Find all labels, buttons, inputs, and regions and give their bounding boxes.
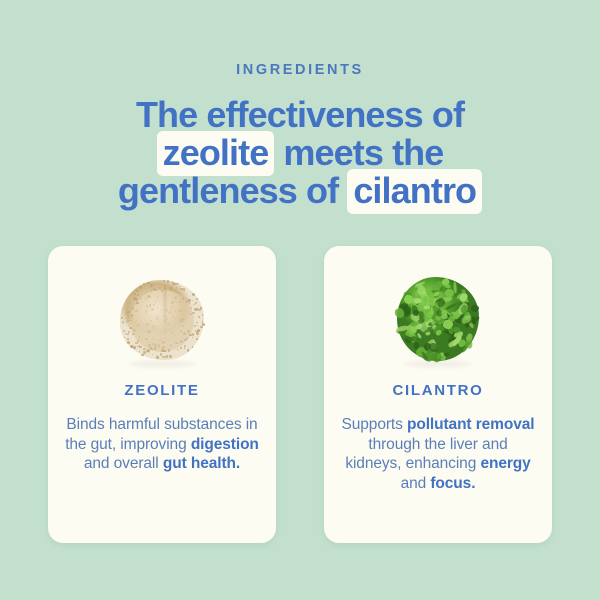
headline-line-3: gentleness of cilantro	[0, 172, 600, 210]
card-body-cilantro: Supports pollutant removal through the l…	[340, 415, 536, 493]
card-body-zeolite: Binds harmful substances in the gut, imp…	[64, 415, 260, 474]
thumb-shadow	[128, 361, 196, 367]
powder-illustration	[114, 272, 210, 368]
headline-text: gentleness of	[118, 170, 347, 211]
ingredient-card-cilantro[interactable]: CILANTRO Supports pollutant removal thro…	[324, 246, 552, 543]
headline-line-2: zeolite meets the	[0, 134, 600, 172]
zeolite-powder-image	[114, 272, 210, 368]
headline-highlight: cilantro	[347, 169, 482, 214]
headline-text: The effectiveness of	[136, 94, 464, 135]
ingredient-card-zeolite[interactable]: ZEOLITE Binds harmful substances in the …	[48, 246, 276, 543]
herb-illustration	[390, 272, 486, 368]
eyebrow-label: INGREDIENTS	[0, 62, 600, 78]
ingredients-infographic: INGREDIENTS The effectiveness of zeolite…	[0, 0, 600, 600]
headline-text: meets the	[274, 132, 443, 173]
ingredient-card-list: ZEOLITE Binds harmful substances in the …	[48, 246, 552, 543]
card-title-cilantro: CILANTRO	[392, 382, 483, 399]
thumb-shadow	[404, 361, 472, 367]
headline-line-1: The effectiveness of	[0, 96, 600, 134]
page-title: The effectiveness of zeolite meets the g…	[0, 96, 600, 210]
card-title-zeolite: ZEOLITE	[124, 382, 199, 399]
cilantro-herb-image	[390, 272, 486, 368]
